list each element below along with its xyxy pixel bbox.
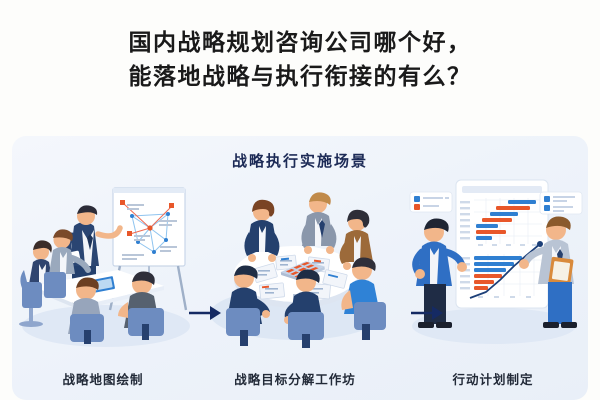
caption-step-3: 行动计划制定: [400, 369, 586, 388]
page-title: 国内战略规划咨询公司哪个好， 能落地战略与执行衔接的有么？: [0, 26, 600, 94]
scene-step-3: 行动计划制定: [400, 174, 586, 400]
scene-step-1: 战略地图绘制: [14, 174, 192, 400]
illustration-strategy-map-meeting: [14, 174, 192, 350]
scene-step-2: 战略目标分解工作坊: [202, 174, 388, 400]
arrow-step1-to-step2-icon: [188, 302, 222, 324]
illustration-round-table-workshop: [202, 174, 388, 350]
strategy-execution-panel: 战略执行实施场景: [12, 136, 588, 400]
caption-step-2: 战略目标分解工作坊: [202, 369, 388, 388]
title-line-2: 能落地战略与执行衔接的有么？: [0, 60, 600, 94]
arrow-step2-to-step3-icon: [410, 302, 444, 324]
caption-step-1: 战略地图绘制: [14, 369, 192, 388]
screenshot-root: 国内战略规划咨询公司哪个好， 能落地战略与执行衔接的有么？ 战略执行实施场景: [0, 0, 600, 400]
title-line-1: 国内战略规划咨询公司哪个好，: [0, 26, 600, 60]
scene-row: 战略地图绘制: [12, 174, 588, 400]
panel-header: 战略执行实施场景: [12, 150, 588, 171]
